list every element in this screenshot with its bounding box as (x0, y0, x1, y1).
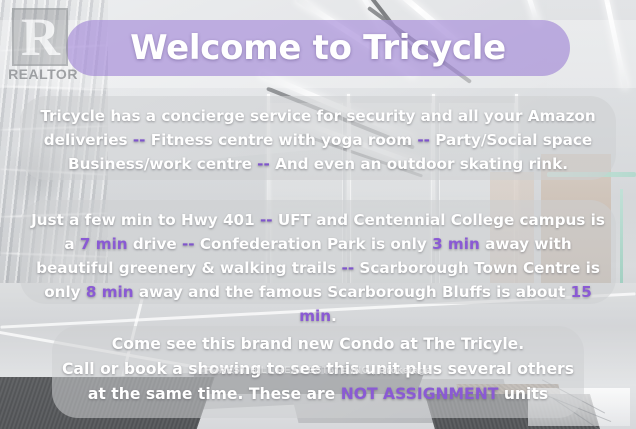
listing-flyer-image: R REALTOR Welcome to Tricycle Tricycle h… (0, 0, 636, 429)
cta-line-1: Come see this brand new Condo at The Tri… (112, 335, 524, 353)
location-dash-3: -- (342, 259, 355, 277)
location-segment-8: . (331, 307, 337, 325)
realtor-logo-watermark: R REALTOR (6, 8, 74, 88)
cta-line-2: Call or book a showing to see this unit … (62, 360, 574, 378)
location-segment-3: drive (128, 235, 182, 253)
drive-time-confederation-park: 3 min (432, 235, 480, 253)
drive-time-scarborough-town-centre: 8 min (86, 283, 134, 301)
call-to-action-paragraph: Come see this brand new Condo at The Tri… (40, 332, 596, 407)
amenities-dash-2: -- (417, 131, 430, 149)
amenities-dash-3: -- (257, 155, 270, 173)
amenities-paragraph: Tricycle has a concierge service for sec… (24, 104, 612, 176)
drive-time-uft: 7 min (80, 235, 128, 253)
location-segment-7: away and the famous Scarborough Bluffs i… (134, 283, 571, 301)
realtor-r-glyph: R (14, 10, 66, 64)
location-segment-1: Just a few min to Hwy 401 (31, 211, 260, 229)
location-paragraph: Just a few min to Hwy 401 -- UFT and Cen… (24, 208, 612, 328)
amenities-segment-4: And even an outdoor skating rink. (270, 155, 568, 173)
not-assignment-highlight: NOT ASSIGNMENT (341, 385, 499, 403)
realtor-monogram-box: R (12, 8, 68, 66)
page-title: Welcome to Tricycle (66, 20, 570, 76)
amenities-dash-1: -- (133, 131, 146, 149)
location-dash-1: -- (260, 211, 273, 229)
location-dash-2: -- (182, 235, 195, 253)
cta-line-3-prefix: at the same time. These are (88, 385, 341, 403)
amenities-segment-2: Fitness centre with yoga room (145, 131, 417, 149)
cta-line-3-suffix: units (498, 385, 548, 403)
location-segment-4: Confederation Park is only (195, 235, 433, 253)
